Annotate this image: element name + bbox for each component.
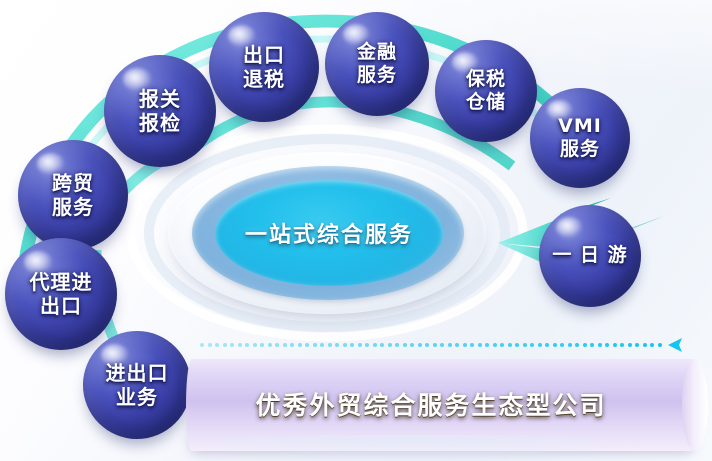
node-customs-line2: 报检 [139, 111, 181, 135]
node-export-line2: 退税 [243, 67, 285, 91]
node-business-line1: 进出口 [106, 361, 169, 385]
node-vmi-line2: 服务 [560, 138, 600, 161]
node-kuamao-service[interactable]: 跨贸 服务 [18, 140, 128, 250]
node-kuamao-line2: 服务 [52, 195, 94, 219]
node-agency-line1: 代理进 [30, 270, 93, 294]
node-financial-service[interactable]: 金融 服务 [325, 12, 429, 116]
node-vmi-service[interactable]: VMI 服务 [530, 88, 630, 188]
node-financial-line2: 服务 [357, 64, 397, 87]
node-export-tax-refund[interactable]: 出口 退税 [209, 12, 319, 122]
banner-label: 优秀外贸综合服务生态型公司 [206, 368, 656, 440]
node-tour-line1: 一 日 游 [552, 244, 627, 267]
node-customs-inspection[interactable]: 报关 报检 [104, 55, 216, 167]
node-kuamao-line1: 跨贸 [52, 171, 94, 195]
banner-cylinder-cap [682, 359, 708, 451]
node-agency-line2: 出口 [40, 294, 82, 318]
node-customs-line1: 报关 [139, 87, 181, 111]
dotted-progress-line [200, 342, 670, 350]
node-bonded-line1: 保税 [466, 68, 506, 91]
node-vmi-line1: VMI [558, 115, 602, 138]
diagram-canvas: 一站式综合服务 跨贸 服务 报关 报检 出口 退税 金融 服务 保税 仓储 VM… [0, 0, 712, 461]
center-label: 一站式综合服务 [245, 217, 413, 249]
node-bonded-line2: 仓储 [466, 91, 506, 114]
dotted-line-arrow-icon [668, 338, 686, 352]
center-ring-inner: 一站式综合服务 [215, 180, 443, 286]
node-financial-line1: 金融 [357, 41, 397, 64]
node-agency-import-export[interactable]: 代理进 出口 [5, 238, 117, 350]
node-export-line1: 出口 [243, 43, 285, 67]
node-one-day-tour[interactable]: 一 日 游 [539, 205, 641, 307]
node-bonded-warehouse[interactable]: 保税 仓储 [435, 40, 537, 142]
node-import-export-business[interactable]: 进出口 业务 [83, 331, 191, 439]
node-business-line2: 业务 [116, 385, 158, 409]
